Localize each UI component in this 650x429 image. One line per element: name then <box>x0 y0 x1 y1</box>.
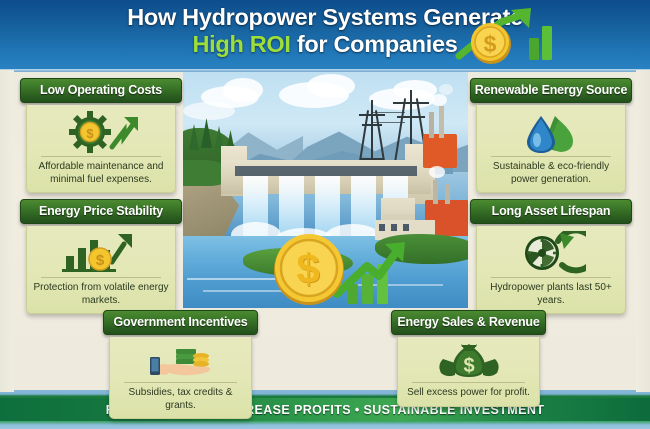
smokestack <box>445 184 450 204</box>
card-body: $ Sell excess power for profit. <box>397 337 540 407</box>
card-low-operating-costs[interactable]: Low Operating Costs $ <box>20 78 182 193</box>
hand-holding-money-icon <box>116 342 245 380</box>
smokestack <box>433 180 438 204</box>
dam-gate-band <box>235 166 417 176</box>
footer-banner: REDUCE COSTS • INCREASE PROFITS • SUSTAI… <box>0 390 650 429</box>
water-ripple <box>187 278 283 280</box>
card-energy-sales-revenue[interactable]: Energy Sales & Revenue $ Sell excess pow… <box>391 310 546 407</box>
card-description: Sell excess power for profit. <box>404 387 533 400</box>
card-divider <box>491 156 611 157</box>
card-divider <box>412 382 525 383</box>
svg-text:$: $ <box>86 126 94 141</box>
footer-inner-band: REDUCE COSTS • INCREASE PROFITS • SUSTAI… <box>0 398 650 421</box>
card-title: Low Operating Costs <box>20 78 182 103</box>
card-body: Hydropower plants last 50+ years. <box>476 226 626 314</box>
card-description: Protection from volatile energy markets. <box>33 282 169 307</box>
transmission-pylon <box>355 100 389 164</box>
card-divider <box>124 382 237 383</box>
card-long-asset-lifespan[interactable]: Long Asset Lifespan <box>470 199 632 314</box>
svg-text:$: $ <box>296 245 319 292</box>
card-title: Energy Sales & Revenue <box>391 310 546 335</box>
svg-text:$: $ <box>484 31 497 57</box>
card-description: Sustainable & eco-friendly power generat… <box>483 161 619 186</box>
right-edge-gradient <box>636 70 650 392</box>
money-bag-icon: $ <box>404 342 533 380</box>
card-title: Energy Price Stability <box>20 199 182 224</box>
card-renewable-energy-source[interactable]: Renewable Energy Source Sustainable & ec… <box>470 78 632 193</box>
card-divider <box>41 156 161 157</box>
hydropower-dam-illustration: $ $ <box>183 72 468 308</box>
gold-dollar-coin-icon: $ $ <box>271 230 347 306</box>
card-description: Subsidies, tax credits & grants. <box>116 387 245 412</box>
water-droplet-leaf-icon <box>483 110 619 154</box>
smoke-puff <box>439 84 453 95</box>
cloud <box>183 102 235 120</box>
window <box>391 224 397 231</box>
card-divider <box>41 277 161 278</box>
card-title: Long Asset Lifespan <box>470 199 632 224</box>
card-government-incentives[interactable]: Government Incentives Subsidies, tax cre <box>103 310 258 419</box>
smoke-puff <box>431 94 447 106</box>
card-body: $ Affordable maintenance and minimal fue… <box>26 105 176 193</box>
smokestack <box>439 106 444 138</box>
card-body: Subsidies, tax credits & grants. <box>109 337 252 419</box>
cloud <box>223 78 263 102</box>
smoke-puff <box>429 166 445 178</box>
factory-building <box>423 134 457 168</box>
card-body: Sustainable & eco-friendly power generat… <box>476 105 626 193</box>
card-title: Government Incentives <box>103 310 258 335</box>
card-body: $ Protection from volatile energy market… <box>26 226 176 314</box>
gear-with-coin-icon: $ <box>33 110 169 154</box>
bar-chart-with-coin-icon: $ <box>33 231 169 275</box>
window <box>403 224 409 231</box>
infographic-poster: $ $ How Hydropower Systems Generate High… <box>0 0 650 429</box>
svg-text:$: $ <box>96 252 105 269</box>
cloud <box>307 74 355 98</box>
card-title: Renewable Energy Source <box>470 78 632 103</box>
card-energy-price-stability[interactable]: Energy Price Stability $ Protection from… <box>20 199 182 314</box>
card-description: Affordable maintenance and minimal fuel … <box>33 161 169 186</box>
svg-text:$: $ <box>463 355 474 377</box>
turbine-clock-arrow-icon <box>483 231 619 275</box>
card-divider <box>491 277 611 278</box>
coin-growth-chart-icon: $ <box>455 8 575 68</box>
window <box>379 224 385 231</box>
left-edge-gradient <box>0 70 14 392</box>
smokestack <box>429 112 434 138</box>
card-description: Hydropower plants last 50+ years. <box>483 282 619 307</box>
